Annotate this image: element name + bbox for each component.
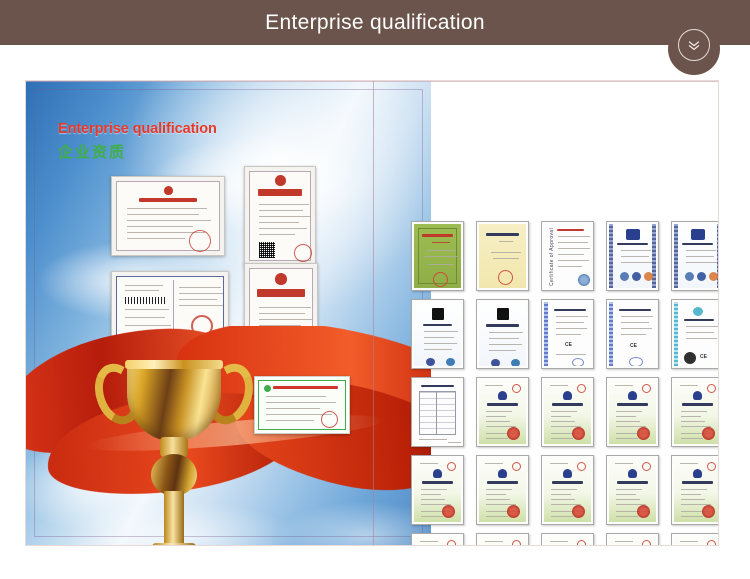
certificate-business-license-1[interactable] xyxy=(244,166,316,266)
page-header: Enterprise qualification xyxy=(0,0,750,45)
text-line xyxy=(259,210,303,211)
trophy-knob xyxy=(151,454,197,496)
text-line xyxy=(125,325,171,326)
panel-divider-left xyxy=(373,81,374,545)
enterprise-qualification-banner[interactable]: Enterprise qualification 企业资质 xyxy=(25,80,719,546)
certificate-gallery-panel xyxy=(431,81,719,545)
red-seal-icon xyxy=(191,315,213,337)
national-emblem-icon xyxy=(275,175,286,186)
text-line xyxy=(127,208,207,209)
text-line xyxy=(266,402,336,403)
text-line xyxy=(127,220,211,221)
trophy-cup xyxy=(127,363,221,441)
certificate-body xyxy=(249,268,313,360)
red-seal-icon xyxy=(321,411,338,428)
red-ribbon-decoration xyxy=(26,326,431,506)
text-line xyxy=(259,234,295,235)
certificate-title-bar xyxy=(258,189,301,196)
certificate-body xyxy=(249,171,311,261)
national-emblem-icon xyxy=(275,273,287,285)
page-title: Enterprise qualification xyxy=(265,11,485,35)
text-line xyxy=(266,408,320,409)
text-line xyxy=(259,331,309,332)
text-line xyxy=(259,325,301,326)
trophy-foot xyxy=(152,543,196,545)
certificate-business-license-2[interactable] xyxy=(244,263,318,365)
qr-code-icon xyxy=(259,341,276,358)
panel-divider-right xyxy=(718,81,719,545)
certificate-title-bar xyxy=(139,198,196,202)
certificate-body xyxy=(116,181,220,251)
trophy-neck xyxy=(160,437,188,457)
text-line xyxy=(179,305,223,306)
certificate-body xyxy=(116,276,224,348)
national-emblem-icon xyxy=(164,186,173,195)
text-line xyxy=(125,309,169,310)
text-line xyxy=(266,396,326,397)
text-line xyxy=(125,333,167,334)
green-badge-icon xyxy=(264,385,271,392)
text-line xyxy=(127,226,193,227)
trophy-stem xyxy=(164,491,184,545)
cloud-decoration xyxy=(66,501,296,545)
trophy-rim xyxy=(125,360,223,369)
certificate-tax-registration[interactable] xyxy=(111,176,225,256)
certificate-title-bar xyxy=(273,386,338,389)
panel-top-border xyxy=(26,81,718,82)
red-seal-icon xyxy=(294,244,312,262)
text-line xyxy=(259,216,311,217)
gold-trophy-graphic xyxy=(94,351,254,545)
qr-code-icon xyxy=(259,242,275,258)
text-line xyxy=(127,238,185,239)
certificate-hi-tech-enterprise[interactable] xyxy=(254,376,350,434)
text-line xyxy=(125,341,163,342)
certificate-title-bar xyxy=(257,289,304,297)
text-line xyxy=(259,319,313,320)
cloud-decoration xyxy=(276,501,431,545)
text-line xyxy=(259,307,311,308)
text-line xyxy=(259,313,305,314)
text-line xyxy=(125,285,163,286)
red-seal-icon xyxy=(294,343,312,361)
text-line xyxy=(179,287,221,288)
text-line xyxy=(127,214,199,215)
text-line xyxy=(259,222,299,223)
text-line xyxy=(179,299,217,300)
red-seal-icon xyxy=(189,230,211,252)
sky-background-panel: Enterprise qualification 企业资质 xyxy=(26,81,431,545)
text-line xyxy=(266,420,314,421)
text-line xyxy=(259,204,309,205)
double-chevron-down-icon xyxy=(686,37,702,53)
cloud-decoration xyxy=(26,441,186,531)
banner-headline-cn: 企业资质 xyxy=(58,141,126,162)
text-line xyxy=(125,290,159,291)
trophy-handle-right xyxy=(199,358,260,431)
text-line xyxy=(179,343,223,344)
barcode-icon xyxy=(125,297,167,304)
certificate-organization-code[interactable] xyxy=(111,271,229,353)
trophy-handle-left xyxy=(87,358,148,431)
scroll-down-button[interactable] xyxy=(678,29,710,61)
text-line xyxy=(259,228,307,229)
text-line xyxy=(179,293,223,294)
text-line xyxy=(125,317,165,318)
banner-headline-en: Enterprise qualification xyxy=(58,121,217,137)
